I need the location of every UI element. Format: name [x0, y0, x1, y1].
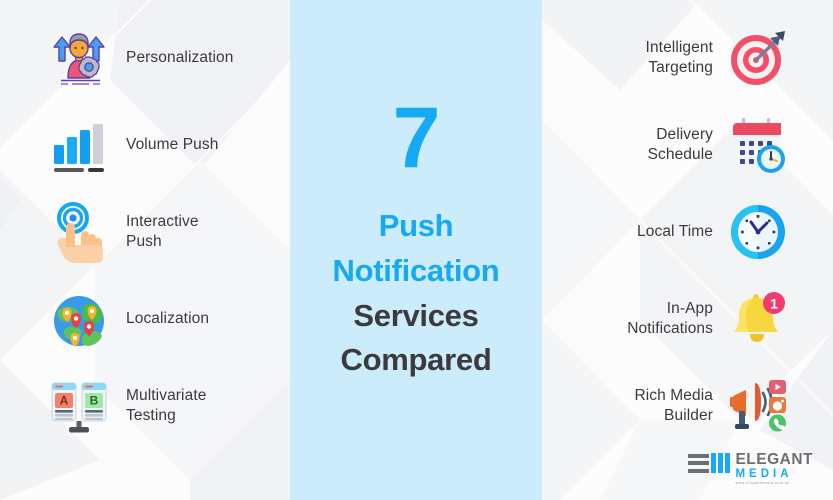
headline-line-push: Push	[379, 204, 454, 249]
infographic-frame: Personalization Volume Push	[0, 0, 833, 500]
feature-label-line2: Schedule	[648, 146, 713, 163]
feature-label-line2: Testing	[126, 407, 176, 424]
feature-label: Volume Push	[126, 135, 218, 155]
feature-label-line1: Rich Media	[634, 387, 713, 404]
feature-label-line1: Intelligent	[646, 39, 713, 56]
feature-label: Interactive Push	[126, 212, 199, 252]
feature-label-line2: Targeting	[648, 59, 713, 76]
feature-row-intelligent-targeting[interactable]: Intelligent Targeting	[542, 14, 833, 101]
right-feature-column: Intelligent Targeting	[542, 0, 833, 500]
headline-line-compared: Compared	[341, 338, 492, 383]
logo-wordmark: ELEGANT MEDIA www.elegantmedia.com.au	[735, 452, 813, 486]
svg-text:B: B	[90, 393, 99, 407]
feature-row-rich-media-builder[interactable]: Rich Media Builder	[542, 362, 833, 449]
feature-label: Rich Media Builder	[634, 386, 713, 426]
headline-number: 7	[393, 99, 440, 178]
feature-row-in-app-notifications[interactable]: In-App Notifications 1	[542, 275, 833, 362]
center-title-panel: 7 Push Notification Services Compared	[290, 0, 542, 500]
feature-label: Intelligent Targeting	[646, 38, 713, 78]
tap-hand-icon	[48, 201, 110, 263]
globe-pins-icon	[48, 288, 110, 350]
logo-mark-icon	[688, 452, 732, 474]
headline-line-services: Services	[353, 294, 478, 339]
feature-label: In-App Notifications	[627, 299, 713, 339]
target-arrow-icon	[727, 27, 789, 89]
logo-horizontal-bars	[688, 454, 709, 473]
svg-text:A: A	[60, 393, 69, 407]
logo-url: www.elegantmedia.com.au	[735, 482, 813, 486]
feature-label: Localization	[126, 309, 209, 329]
feature-row-multivariate-testing[interactable]: A B M	[0, 362, 290, 449]
feature-label-line2: Notifications	[627, 320, 713, 337]
personalization-icon	[48, 27, 110, 89]
feature-row-delivery-schedule[interactable]: Delivery Schedule	[542, 101, 833, 188]
ab-test-icon: A B	[48, 375, 110, 437]
feature-row-interactive-push[interactable]: Interactive Push	[0, 188, 290, 275]
left-feature-column: Personalization Volume Push	[0, 0, 290, 500]
feature-label: Local Time	[637, 222, 713, 242]
feature-label-line1: In-App	[667, 300, 713, 317]
feature-label-line1: Delivery	[656, 126, 713, 143]
feature-label-line1: Multivariate	[126, 387, 206, 404]
logo-name-bottom: MEDIA	[735, 469, 813, 481]
headline-line-notification: Notification	[333, 249, 500, 294]
feature-label-line2: Builder	[664, 407, 713, 424]
feature-label: Personalization	[126, 48, 233, 68]
bell-badge-icon: 1	[727, 288, 789, 350]
feature-row-volume-push[interactable]: Volume Push	[0, 101, 290, 188]
feature-row-personalization[interactable]: Personalization	[0, 14, 290, 101]
megaphone-media-icon	[727, 375, 789, 437]
logo-name-top: ELEGANT	[735, 452, 813, 468]
bar-chart-icon	[48, 114, 110, 176]
brand-logo[interactable]: ELEGANT MEDIA www.elegantmedia.com.au	[688, 452, 813, 486]
clock-icon	[727, 201, 789, 263]
feature-label-line1: Interactive	[126, 213, 199, 230]
calendar-clock-icon	[727, 114, 789, 176]
logo-vertical-bars	[711, 453, 732, 473]
feature-row-localization[interactable]: Localization	[0, 275, 290, 362]
feature-row-local-time[interactable]: Local Time	[542, 188, 833, 275]
feature-label: Delivery Schedule	[648, 125, 713, 165]
notification-badge-count: 1	[770, 295, 778, 311]
feature-label: Multivariate Testing	[126, 386, 206, 426]
feature-label-line2: Push	[126, 233, 162, 250]
